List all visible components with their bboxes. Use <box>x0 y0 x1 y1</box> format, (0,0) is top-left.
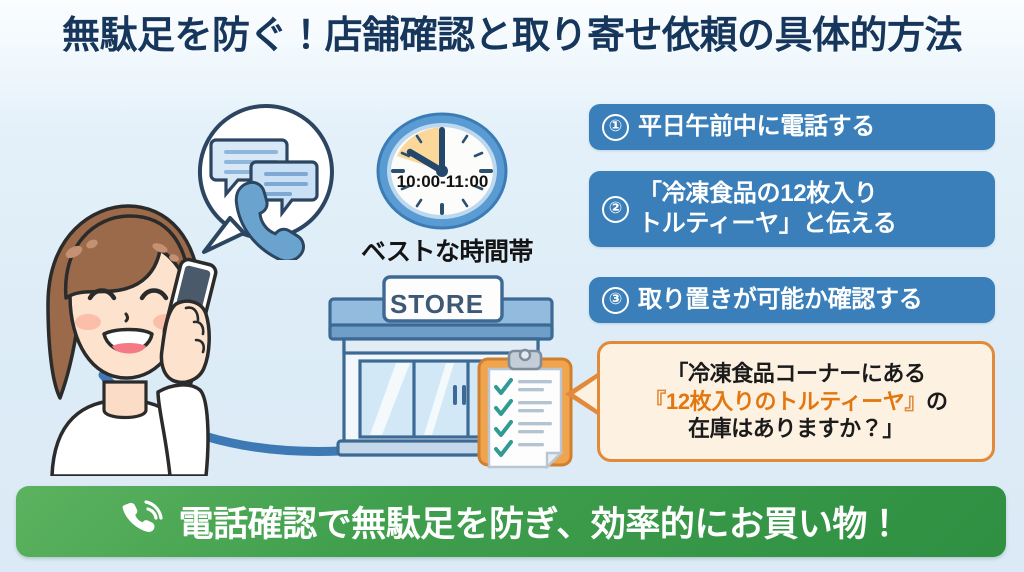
step-2-label: 「冷凍食品の12枚入り トルティーヤ」と伝える <box>638 179 897 239</box>
step-3-label: 取り置きが可能か確認する <box>638 285 922 315</box>
clock-icon <box>372 112 512 230</box>
callout-line-2: 『12枚入りのトルティーヤ』の <box>644 388 947 416</box>
clock-time-label: 10:00-11:00 <box>385 172 500 192</box>
callout-line-2-tail: の <box>926 389 948 414</box>
summary-banner-text: 電話確認で無駄足を防ぎ、効率的にお買い物！ <box>179 496 902 547</box>
step-2[interactable]: ② 「冷凍食品の12枚入り トルティーヤ」と伝える <box>589 171 995 247</box>
step-1-label: 平日午前中に電話する <box>638 112 875 142</box>
callout-line-1: 「冷凍食品コーナーにある <box>666 360 925 388</box>
step-2-label-line1: 「冷凍食品の12枚入り <box>638 180 877 207</box>
callout-open-quote: 『 <box>644 389 666 414</box>
step-2-number: ② <box>602 196 629 223</box>
callout-close-quote: 』 <box>904 389 926 414</box>
callout-line-3: 在庫はありますか？」 <box>688 415 904 443</box>
infographic-canvas: 無駄足を防ぐ！店舗確認と取り寄せ依頼の具体的方法 <box>0 0 1024 572</box>
phone-ringing-icon <box>121 500 165 544</box>
callout-highlight: 12枚入りのトルティーヤ <box>666 389 904 414</box>
step-1[interactable]: ① 平日午前中に電話する <box>589 104 995 150</box>
page-title: 無駄足を防ぐ！店舗確認と取り寄せ依頼の具体的方法 <box>0 14 1024 59</box>
step-3-number: ③ <box>602 287 629 314</box>
step-2-label-line2: トルティーヤ」と伝える <box>638 209 897 239</box>
step-1-number: ① <box>602 114 629 141</box>
store-sign-text: STORE <box>382 289 492 320</box>
summary-banner: 電話確認で無駄足を防ぎ、効率的にお買い物！ <box>16 486 1006 557</box>
step-3[interactable]: ③ 取り置きが可能か確認する <box>589 277 995 323</box>
sample-script-callout: 「冷凍食品コーナーにある 『12枚入りのトルティーヤ』の 在庫はありますか？」 <box>597 341 995 462</box>
clock-caption: ベストな時間帯 <box>352 232 542 268</box>
woman-on-phone-illustration <box>8 186 240 476</box>
clipboard-checklist-icon <box>473 345 577 469</box>
